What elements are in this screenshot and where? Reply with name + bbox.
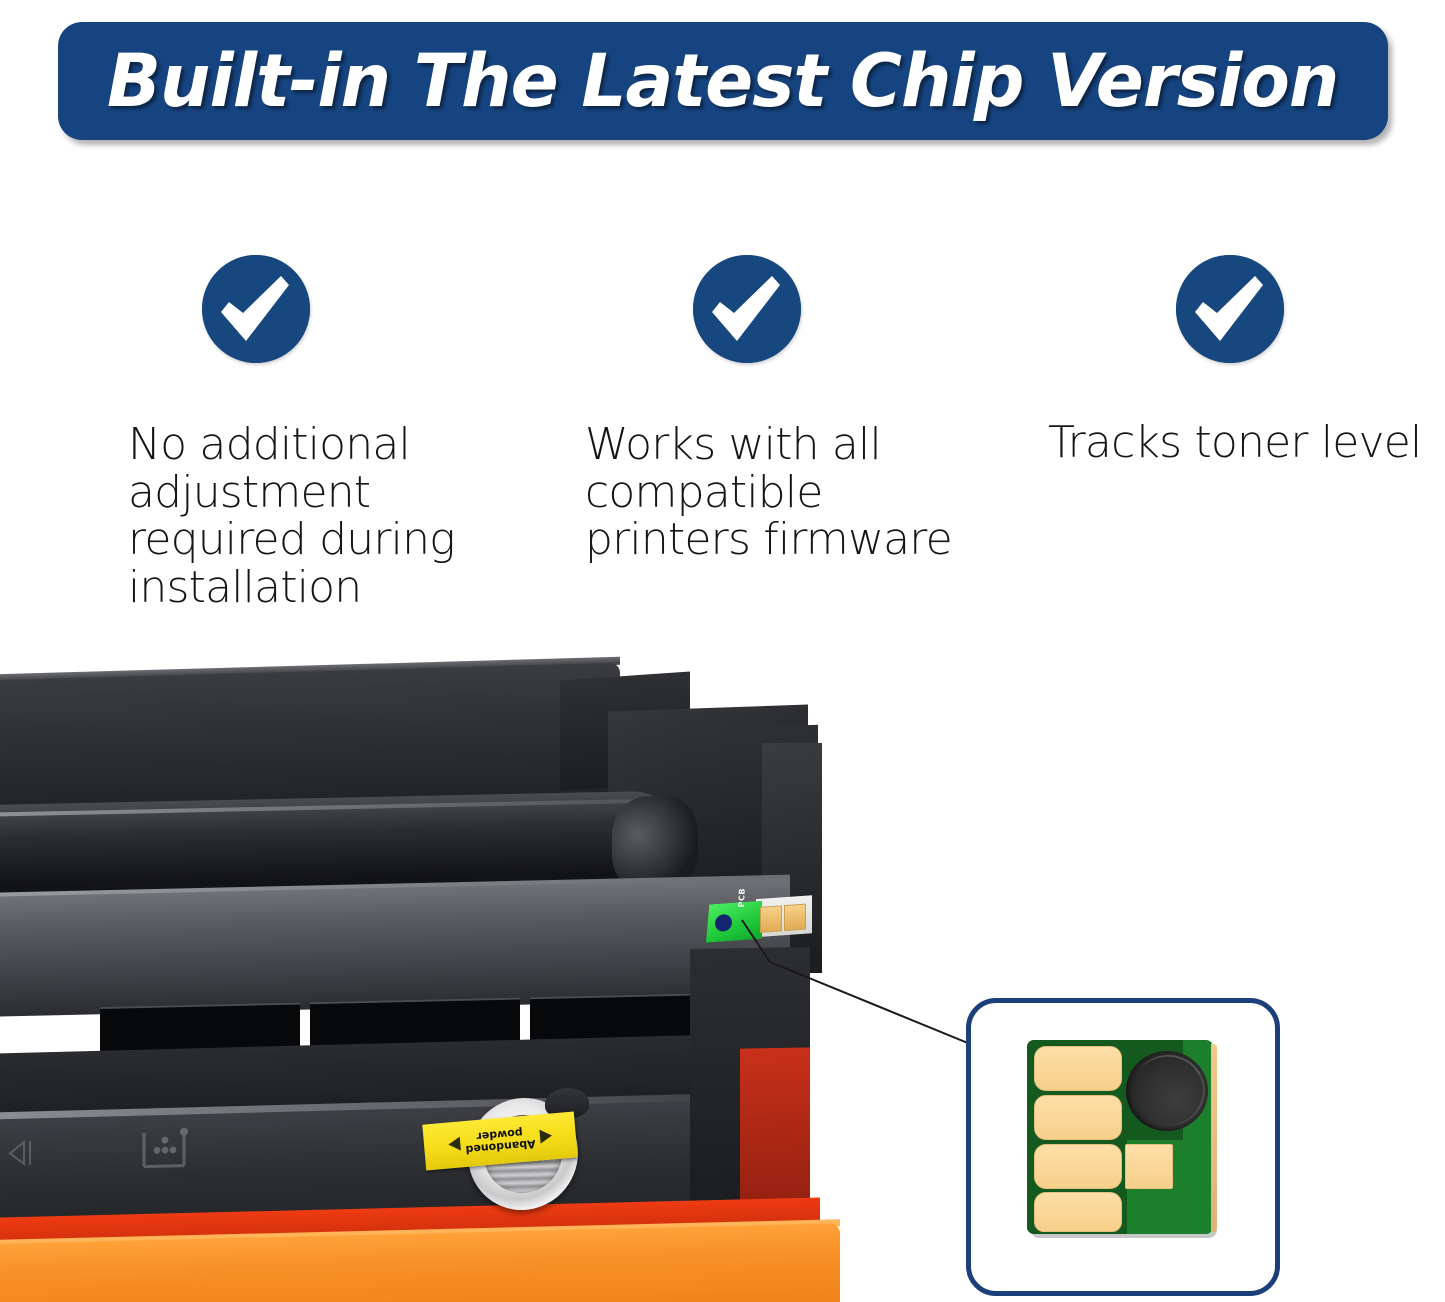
chip-gold-edge — [1211, 1044, 1217, 1232]
chip-contact-pad — [1034, 1144, 1122, 1189]
arrow-left-icon — [539, 1129, 552, 1144]
abandoned-powder-text: Abandoned powder — [464, 1126, 536, 1155]
feature-item-tracks-toner: Tracks toner level — [1048, 255, 1445, 467]
header-banner: Built-in The Latest Chip Version — [58, 22, 1388, 140]
check-circle-icon — [202, 255, 310, 363]
toner-chip-on-cartridge: PCB — [706, 897, 810, 942]
chip-silkscreen-text: PCB — [737, 888, 747, 908]
arrow-right-icon — [447, 1138, 460, 1153]
chip-contact-pad — [1034, 1095, 1122, 1140]
chip-contact-pad-square — [1125, 1144, 1173, 1189]
chip-contact-pad — [784, 904, 806, 932]
feature-label: Works with all compatible printers firmw… — [585, 421, 1015, 564]
chip-contact-pad — [1034, 1192, 1122, 1232]
embossed-recycle-icon — [138, 1125, 200, 1179]
feature-item-firmware-compatible: Works with all compatible printers firmw… — [585, 255, 1015, 564]
check-circle-icon — [1176, 255, 1284, 363]
feature-label: Tracks toner level — [1048, 419, 1445, 467]
feature-item-no-adjustment: No additional adjustment required during… — [120, 255, 540, 611]
banner-title: Built-in The Latest Chip Version — [107, 39, 1338, 124]
feature-label: No additional adjustment required during… — [128, 421, 540, 611]
chip-contact-pad — [760, 905, 782, 933]
embossed-arrow-icon — [6, 1136, 40, 1171]
chip-closeup-inset — [966, 998, 1280, 1296]
check-circle-icon — [693, 255, 801, 363]
chip-illustration — [1027, 1040, 1213, 1234]
chip-contact-pad — [1034, 1046, 1122, 1091]
feature-list: No additional adjustment required during… — [0, 255, 1445, 635]
